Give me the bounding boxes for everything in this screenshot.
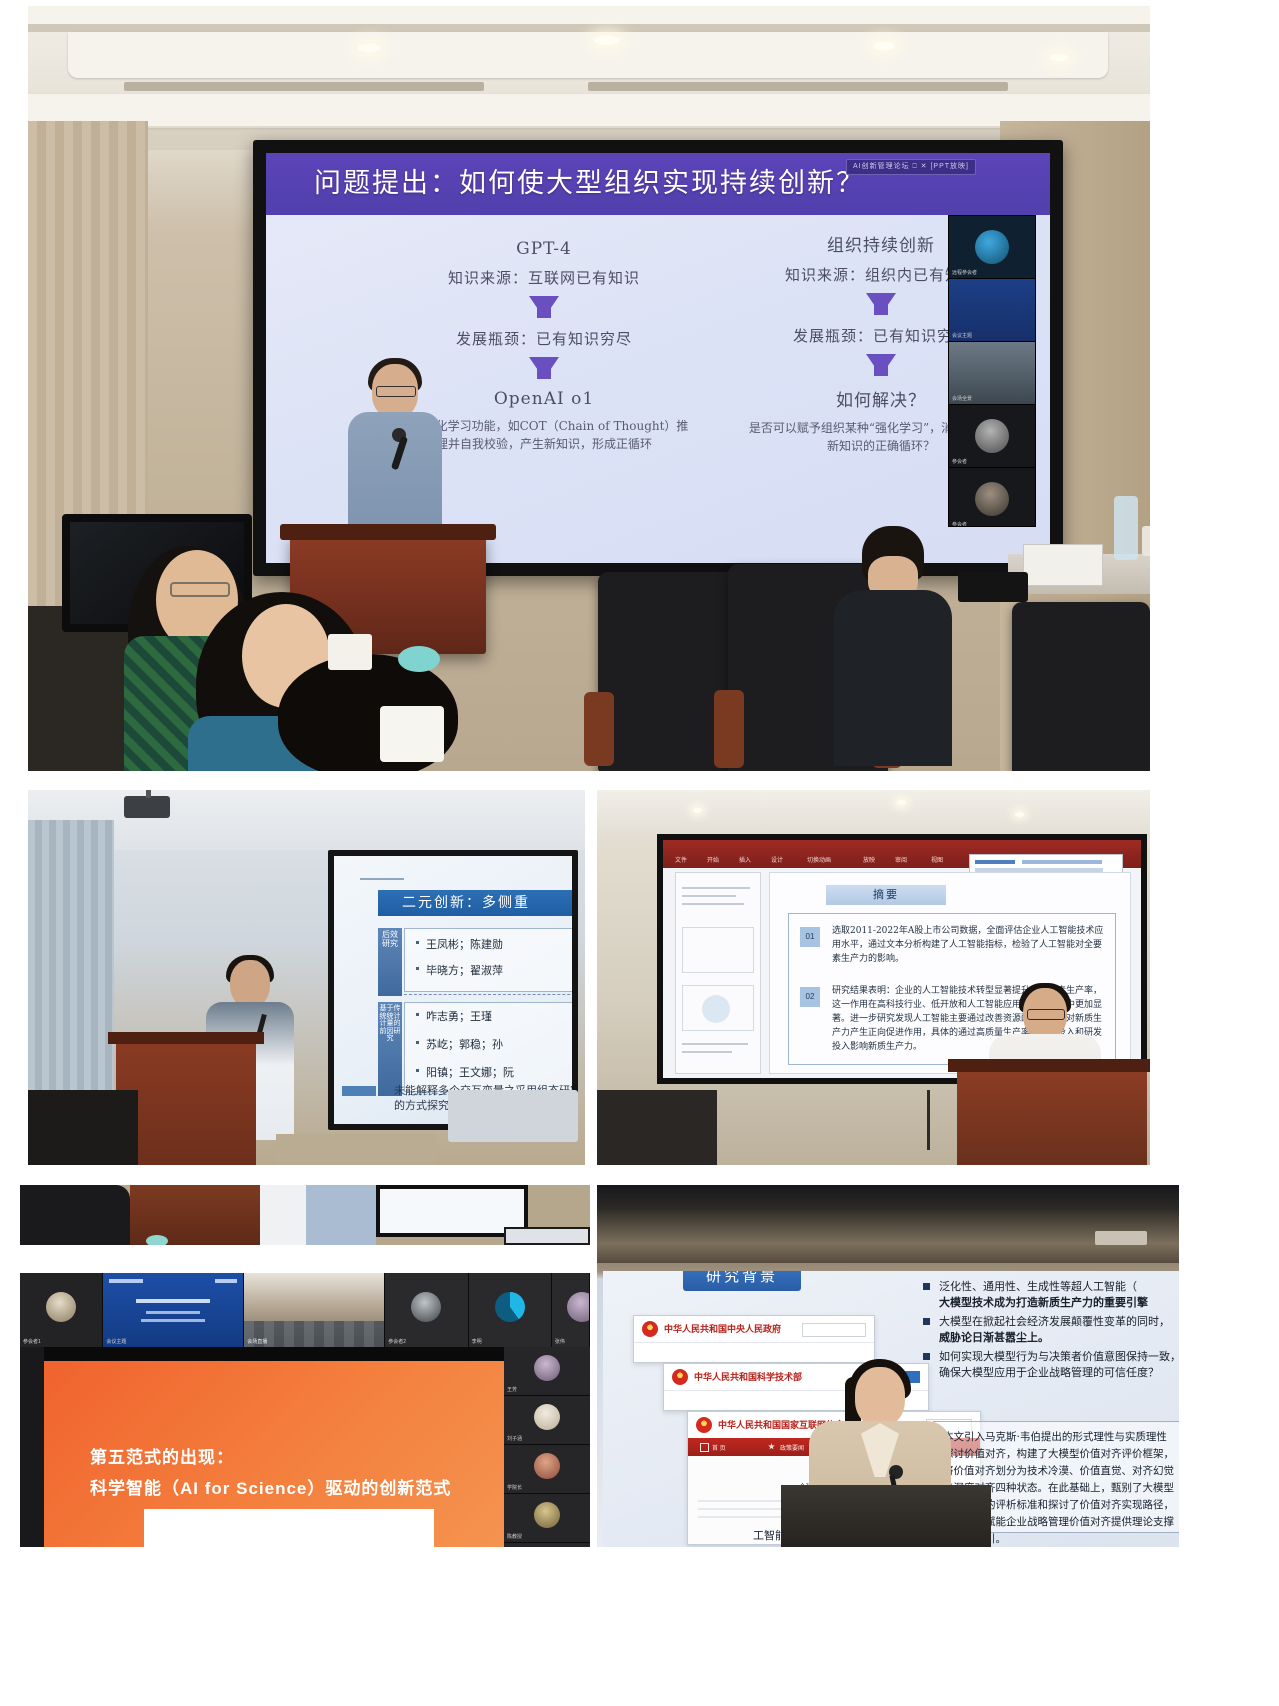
down-arrow-icon [529, 296, 559, 318]
group-2-item-2: 苏屹；郭稳；孙 [426, 1036, 503, 1052]
slide-header: 摘要 [826, 885, 946, 905]
group-2-item-1: 咋志勇；王瑾 [426, 1008, 492, 1024]
participant-name: 王芳 [507, 1386, 517, 1393]
podium [781, 1485, 991, 1547]
ceiling [597, 790, 1150, 838]
projector [124, 796, 170, 818]
participant-tile[interactable]: 会场直播 [244, 1273, 385, 1347]
seated-attendee [834, 526, 952, 766]
upper-wall [597, 1185, 1179, 1263]
bullet-3-text: 如何实现大模型行为与决策者价值意图保持一致，确保大模型应用于企业战略管理的可信任… [939, 1350, 1179, 1379]
audience-eyeglasses [170, 582, 230, 597]
down-arrow-icon [529, 357, 559, 379]
paper-stack [380, 706, 444, 762]
teacup [398, 646, 440, 672]
wall-sign [1095, 1231, 1147, 1245]
meeting-thumbnail[interactable]: 会议主题 [949, 279, 1035, 342]
bullet-dot [416, 1013, 419, 1016]
zoom-meeting-window: 参会者1 会议主题 会场直播 参会者2 [20, 1273, 590, 1547]
group-label-1: 后效研究 [378, 928, 402, 996]
ceiling-light-2 [594, 36, 620, 45]
slide-line-2: 科学智能（AI for Science）驱动的创新范式 [90, 1474, 451, 1499]
keynote-presentation-photo: 问题提出：如何使大型组织实现持续创新？ AI创新管理论坛 ⎕ ✕ [PPT放映]… [28, 6, 1150, 771]
divider [404, 994, 572, 995]
photo-collage: 问题提出：如何使大型组织实现持续创新？ AI创新管理论坛 ⎕ ✕ [PPT放映]… [0, 0, 1279, 1706]
bullet-icon-2: 02 [800, 987, 820, 1007]
laptop [448, 1090, 578, 1142]
bullet-icon-1: 01 [800, 927, 820, 947]
participant-tile[interactable]: 学院长 [504, 1445, 590, 1494]
speaker-body [260, 1185, 306, 1245]
bullet-dot [416, 941, 419, 944]
shared-screen-stage: 第五范式的出现： 科学智能（AI for Science）驱动的创新范式 [44, 1347, 504, 1547]
water-bottle [1114, 496, 1138, 560]
meeting-thumbnail[interactable]: 参会者 [949, 468, 1035, 527]
thumbnail-name: 远程参会者 [952, 269, 977, 276]
bullet-2-text: 大模型在掀起社会经济发展颠覆性变革的同时， [939, 1315, 1170, 1328]
room-photo-strip [20, 1185, 590, 1245]
bullet-dot [416, 1041, 419, 1044]
slide-title-bar: 问题提出：如何使大型组织实现持续创新？ AI创新管理论坛 ⎕ ✕ [PPT放映] [266, 153, 1050, 215]
window-curtain [28, 820, 114, 1120]
participant-tile[interactable]: 会议主题 [103, 1273, 244, 1347]
gov-window-2-title: 中华人民共和国科学技术部 [694, 1370, 802, 1383]
foreground-monitor [28, 1090, 138, 1165]
projected-slide: 二元创新：多侧重 后效研究 王凤彬；陈建勋 毕晓方；翟淑萍 基于传统统计计量的前… [334, 856, 572, 1124]
meeting-thumbnail-strip: 远程参会者 会议主题 会场全景 参会者 参会者 [948, 215, 1036, 527]
chair-back [20, 1185, 130, 1245]
bullet-1: 泛化性、通用性、生成性等超人工智能（ 大模型技术成为打造新质生产力的重要引擎 [923, 1279, 1179, 1310]
down-arrow-icon [866, 293, 896, 315]
bullet-3: 如何实现大模型行为与决策者价值意图保持一致，确保大模型应用于企业战略管理的可信任… [923, 1349, 1179, 1380]
thumbnail-name: 会场全景 [952, 395, 972, 402]
meeting-thumbnail[interactable]: 参会者 [949, 405, 1035, 468]
ceiling-light-1 [358, 44, 380, 52]
bullet-1-strong: 大模型技术成为打造新质生产力的重要引擎 [939, 1295, 1179, 1311]
group-1-item-1: 王凤彬；陈建勋 [426, 936, 503, 952]
group-2-item-3: 阳镇；王文娜；阮 [426, 1064, 514, 1080]
participant-name: 张伟 [555, 1338, 565, 1345]
slide-line-1: 第五范式的出现： [90, 1443, 234, 1468]
microphone-stand [927, 1090, 930, 1150]
cup [1142, 526, 1150, 556]
laptop [504, 1227, 590, 1245]
bullet-dot [416, 1069, 419, 1072]
participant-name: 李明 [472, 1338, 482, 1345]
participant-filmstrip[interactable]: 参会者1 会议主题 会场直播 参会者2 [20, 1273, 590, 1347]
star-icon [768, 1443, 775, 1450]
slide-title: 问题提出：如何使大型组织实现持续创新？ [314, 161, 865, 200]
left-line-1: 知识来源：互联网已有知识 [394, 267, 694, 288]
head [230, 960, 270, 1008]
slide-header: 二元创新：多侧重 [378, 890, 572, 916]
bullet-dot [416, 967, 419, 970]
teacup [146, 1235, 168, 1245]
participant-name: 陈教授 [507, 1533, 522, 1540]
nav-item-2[interactable]: 政策要闻 [780, 1443, 804, 1452]
ceiling [28, 6, 1150, 156]
abstract-paragraph-1: 选取2011-2022年A股上市公司数据，全面评估企业人工智能技术应用水平，通过… [832, 925, 1104, 967]
bullet-1-text: 泛化性、通用性、生成性等超人工智能（ [939, 1280, 1137, 1293]
down-arrow-icon [866, 354, 896, 376]
slide-bullet-list: 泛化性、通用性、生成性等超人工智能（ 大模型技术成为打造新质生产力的重要引擎 大… [923, 1279, 1179, 1385]
meeting-thumbnail[interactable]: 远程参会者 [949, 216, 1035, 279]
speaker-presentation-photo-4: 研究背景 中华人民共和国中央人民政府 中华人民共和国科学技术部 中华人民共和国国… [597, 1185, 1179, 1547]
presentation-window-chip: AI创新管理论坛 ⎕ ✕ [PPT放映] [846, 159, 976, 175]
slide-rule [360, 878, 404, 880]
ceiling-light-4 [1050, 54, 1068, 61]
tissue-box [328, 634, 372, 670]
name-card [1023, 544, 1103, 586]
thumbnail-name: 会议主题 [952, 332, 972, 339]
participant-tile[interactable]: 陈教授 [504, 1494, 590, 1543]
participant-tile[interactable]: 张伟 [552, 1273, 590, 1347]
bullet-2-strong: 威胁论日渐甚嚣尘上。 [939, 1330, 1179, 1346]
meeting-thumbnail[interactable]: 会场全景 [949, 342, 1035, 405]
gov-window-1-title: 中华人民共和国中央人民政府 [664, 1322, 781, 1335]
meeting-side-toolbar[interactable] [20, 1347, 44, 1547]
participant-name: 学院长 [507, 1484, 522, 1491]
search-box[interactable] [802, 1323, 866, 1337]
national-emblem-icon [672, 1369, 688, 1385]
participant-tile[interactable]: 王芳 [504, 1347, 590, 1396]
head [855, 1367, 905, 1427]
chair [1012, 602, 1150, 771]
participant-tile[interactable]: 参会者1 [20, 1273, 103, 1347]
speaker-legs [306, 1185, 376, 1245]
foreground-equipment [597, 1090, 717, 1165]
shared-slide: 第五范式的出现： 科学智能（AI for Science）驱动的创新范式 [44, 1361, 504, 1547]
online-meeting-screenshot: 参会者1 会议主题 会场直播 参会者2 [20, 1185, 590, 1547]
home-icon [700, 1443, 709, 1452]
participant-tile[interactable]: 刘子涵 [504, 1396, 590, 1445]
participant-tile[interactable]: 李明 [469, 1273, 552, 1347]
eyeglasses [1027, 1009, 1065, 1020]
thumbnail-name: 参会者 [952, 458, 967, 465]
speaker-presentation-photo-3: 文件 开始 插入 设计 切换动画 放映 审阅 视图 [597, 790, 1150, 1165]
eyeglasses [376, 386, 416, 397]
left-line-2: 发展瓶颈：已有知识穷尽 [394, 328, 694, 349]
sidebar-thumbnail-pane[interactable] [675, 872, 761, 1074]
slide-white-panel [144, 1509, 434, 1547]
speaker-at-podium [346, 364, 442, 544]
participant-name: 刘子涵 [507, 1435, 522, 1442]
participant-tile[interactable]: 赵敏 [504, 1543, 590, 1547]
participant-name: 参会者1 [23, 1338, 41, 1345]
left-heading: GPT-4 [394, 239, 694, 259]
national-emblem-icon [642, 1321, 658, 1337]
participant-rail[interactable]: 王芳 刘子涵 学院长 陈教授 赵敏 [504, 1347, 590, 1547]
national-emblem-icon [696, 1417, 712, 1433]
participant-name: 会场直播 [247, 1338, 267, 1345]
desk-microphone [958, 572, 1028, 602]
gov-window-1[interactable]: 中华人民共和国中央人民政府 [633, 1315, 875, 1363]
group-1-item-2: 毕晓方；翟淑萍 [426, 962, 503, 978]
front-desk [276, 1134, 436, 1165]
projector-mount [146, 790, 151, 798]
ceiling-light-3 [873, 42, 895, 50]
thumbnail-name: 参会者 [952, 521, 967, 527]
participant-name: 参会者2 [388, 1338, 406, 1345]
participant-name: 会议主题 [106, 1338, 126, 1345]
bullet-2: 大模型在掀起社会经济发展颠覆性变革的同时， 威胁论日渐甚嚣尘上。 [923, 1314, 1179, 1345]
participant-tile[interactable]: 参会者2 [385, 1273, 468, 1347]
group-label-2: 基于传统统计计量的前因研究 [378, 1002, 402, 1096]
slide-header: 研究背景 [683, 1271, 801, 1291]
speaker-presentation-photo-2: 二元创新：多侧重 后效研究 王凤彬；陈建勋 毕晓方；翟淑萍 基于传统统计计量的前… [28, 790, 585, 1165]
slide-badge [342, 1086, 376, 1096]
podium [957, 1068, 1147, 1165]
nav-item-1[interactable]: 首 页 [712, 1443, 726, 1452]
